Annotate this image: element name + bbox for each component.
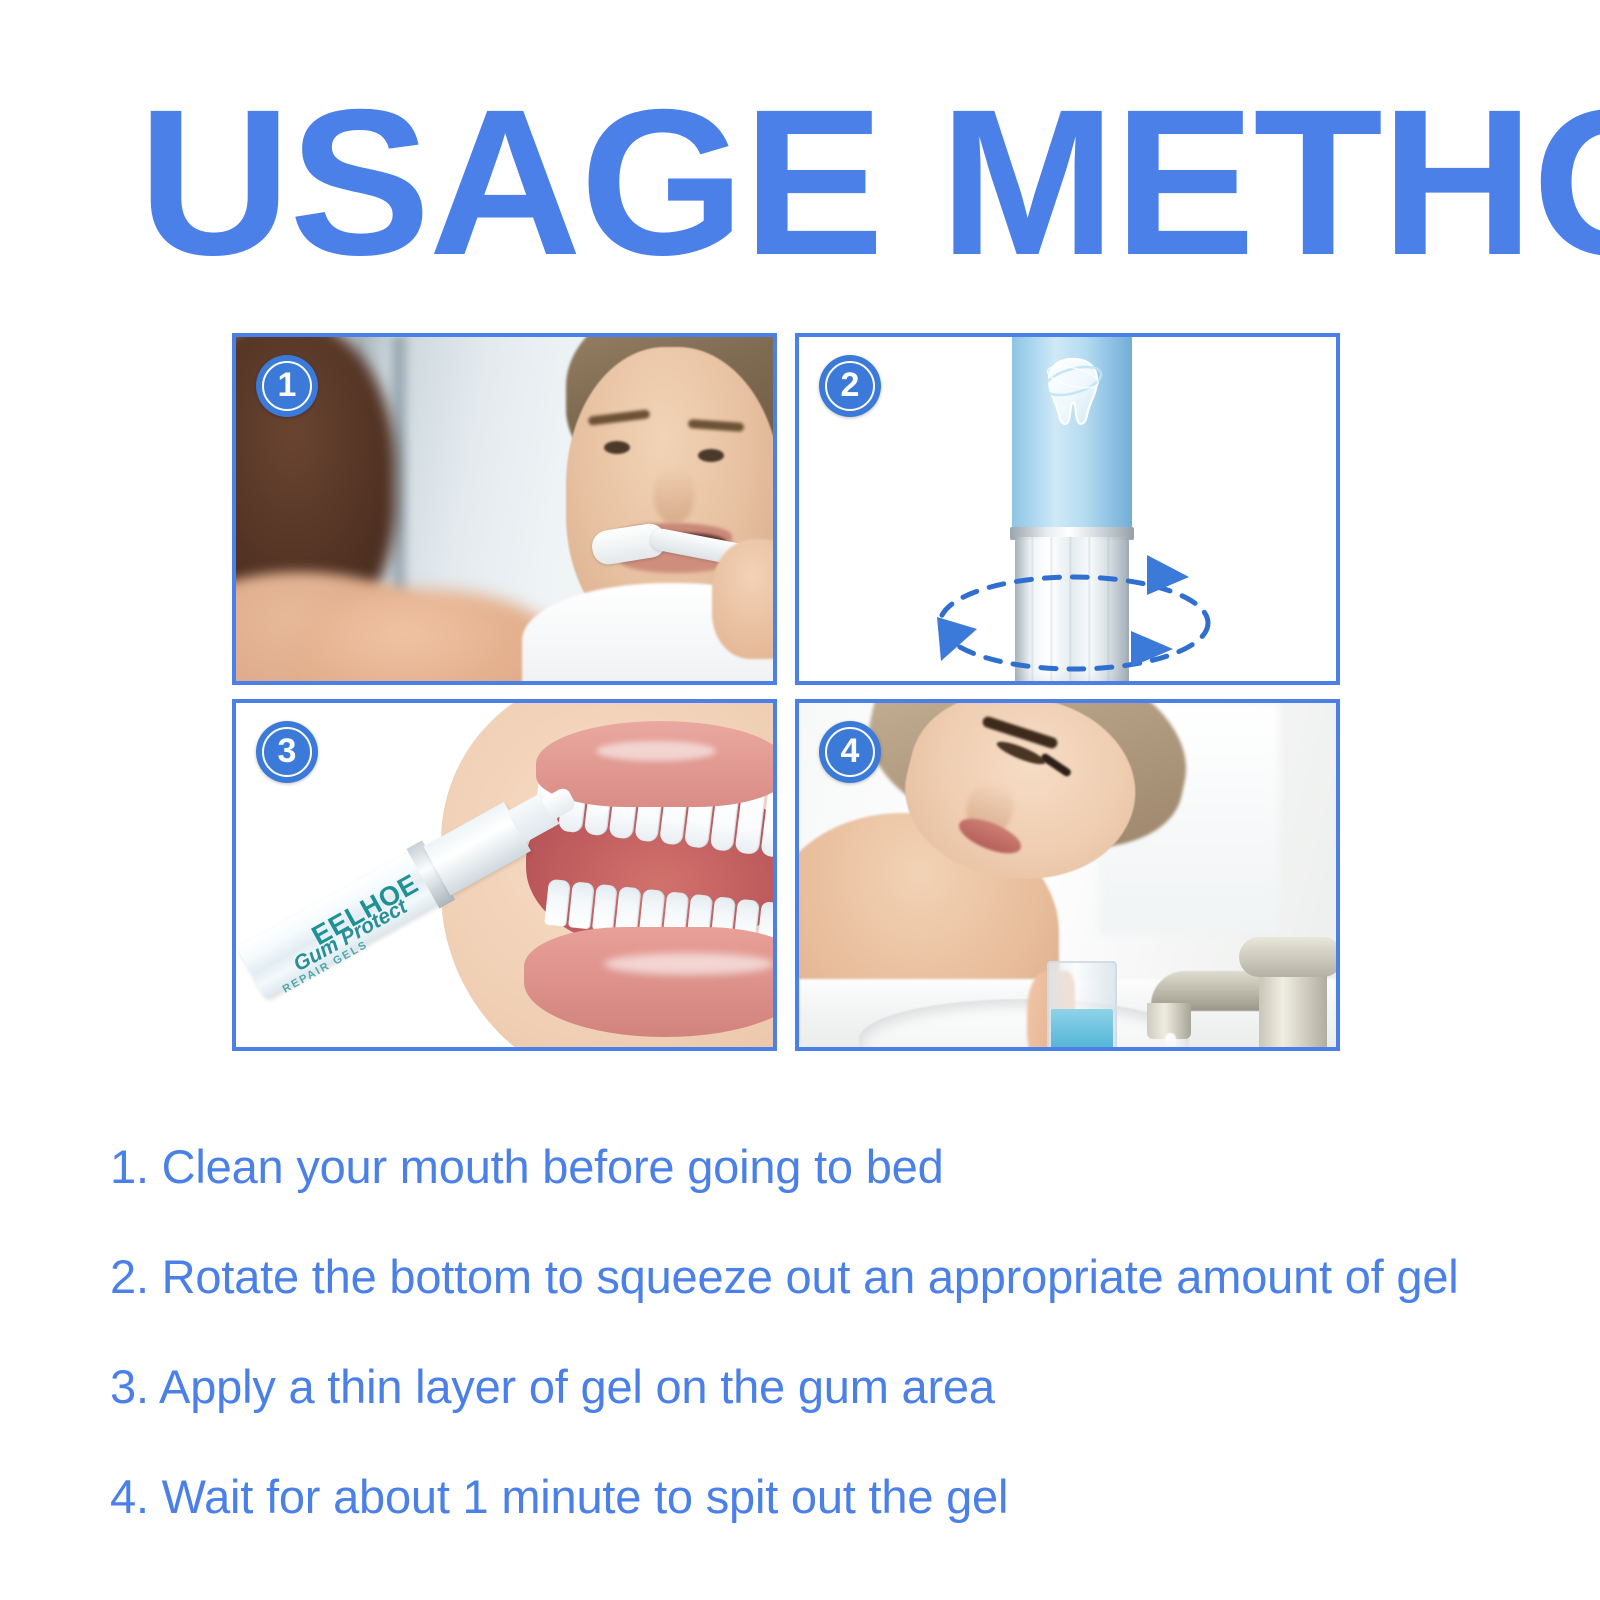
step-panel-4: 4 [795, 699, 1340, 1051]
tooth-icon [1042, 353, 1104, 431]
lower-lip-highlight [604, 953, 773, 975]
step-badge-3: 3 [256, 721, 318, 783]
step-panel-2: 2 [795, 333, 1340, 685]
instruction-step-1: 1. Clean your mouth before going to bed [110, 1112, 1530, 1222]
upper-lip-highlight [596, 741, 716, 761]
step-panel-3: EELHOE Gum Protect REPAIR GELS 3 [232, 699, 777, 1051]
woman-eye-right [698, 449, 724, 462]
step-badge-2-label: 2 [819, 355, 881, 417]
instruction-list: 1. Clean your mouth before going to bed … [110, 1112, 1530, 1552]
woman-nose [654, 467, 694, 523]
mouthwash-liquid [1051, 1009, 1113, 1047]
page-title: USAGE METHOD [138, 88, 1495, 278]
step-badge-2: 2 [819, 355, 881, 417]
step-badge-1: 1 [256, 355, 318, 417]
steps-grid: 1 [232, 333, 1340, 1051]
instruction-step-2: 2. Rotate the bottom to squeeze out an a… [110, 1222, 1530, 1332]
step-badge-1-label: 1 [256, 355, 318, 417]
step-badge-4: 4 [819, 721, 881, 783]
woman-eye-left [604, 441, 630, 454]
step-badge-3-label: 3 [256, 721, 318, 783]
running-water [1165, 1033, 1176, 1047]
instruction-step-3: 3. Apply a thin layer of gel on the gum … [110, 1332, 1530, 1442]
woman-hand [712, 539, 773, 659]
faucet-handle [1239, 937, 1336, 977]
upper-lip [536, 721, 773, 807]
rotation-arrows-icon [919, 537, 1229, 681]
instruction-step-4: 4. Wait for about 1 minute to spit out t… [110, 1442, 1530, 1552]
step-badge-4-label: 4 [819, 721, 881, 783]
step-panel-1: 1 [232, 333, 777, 685]
